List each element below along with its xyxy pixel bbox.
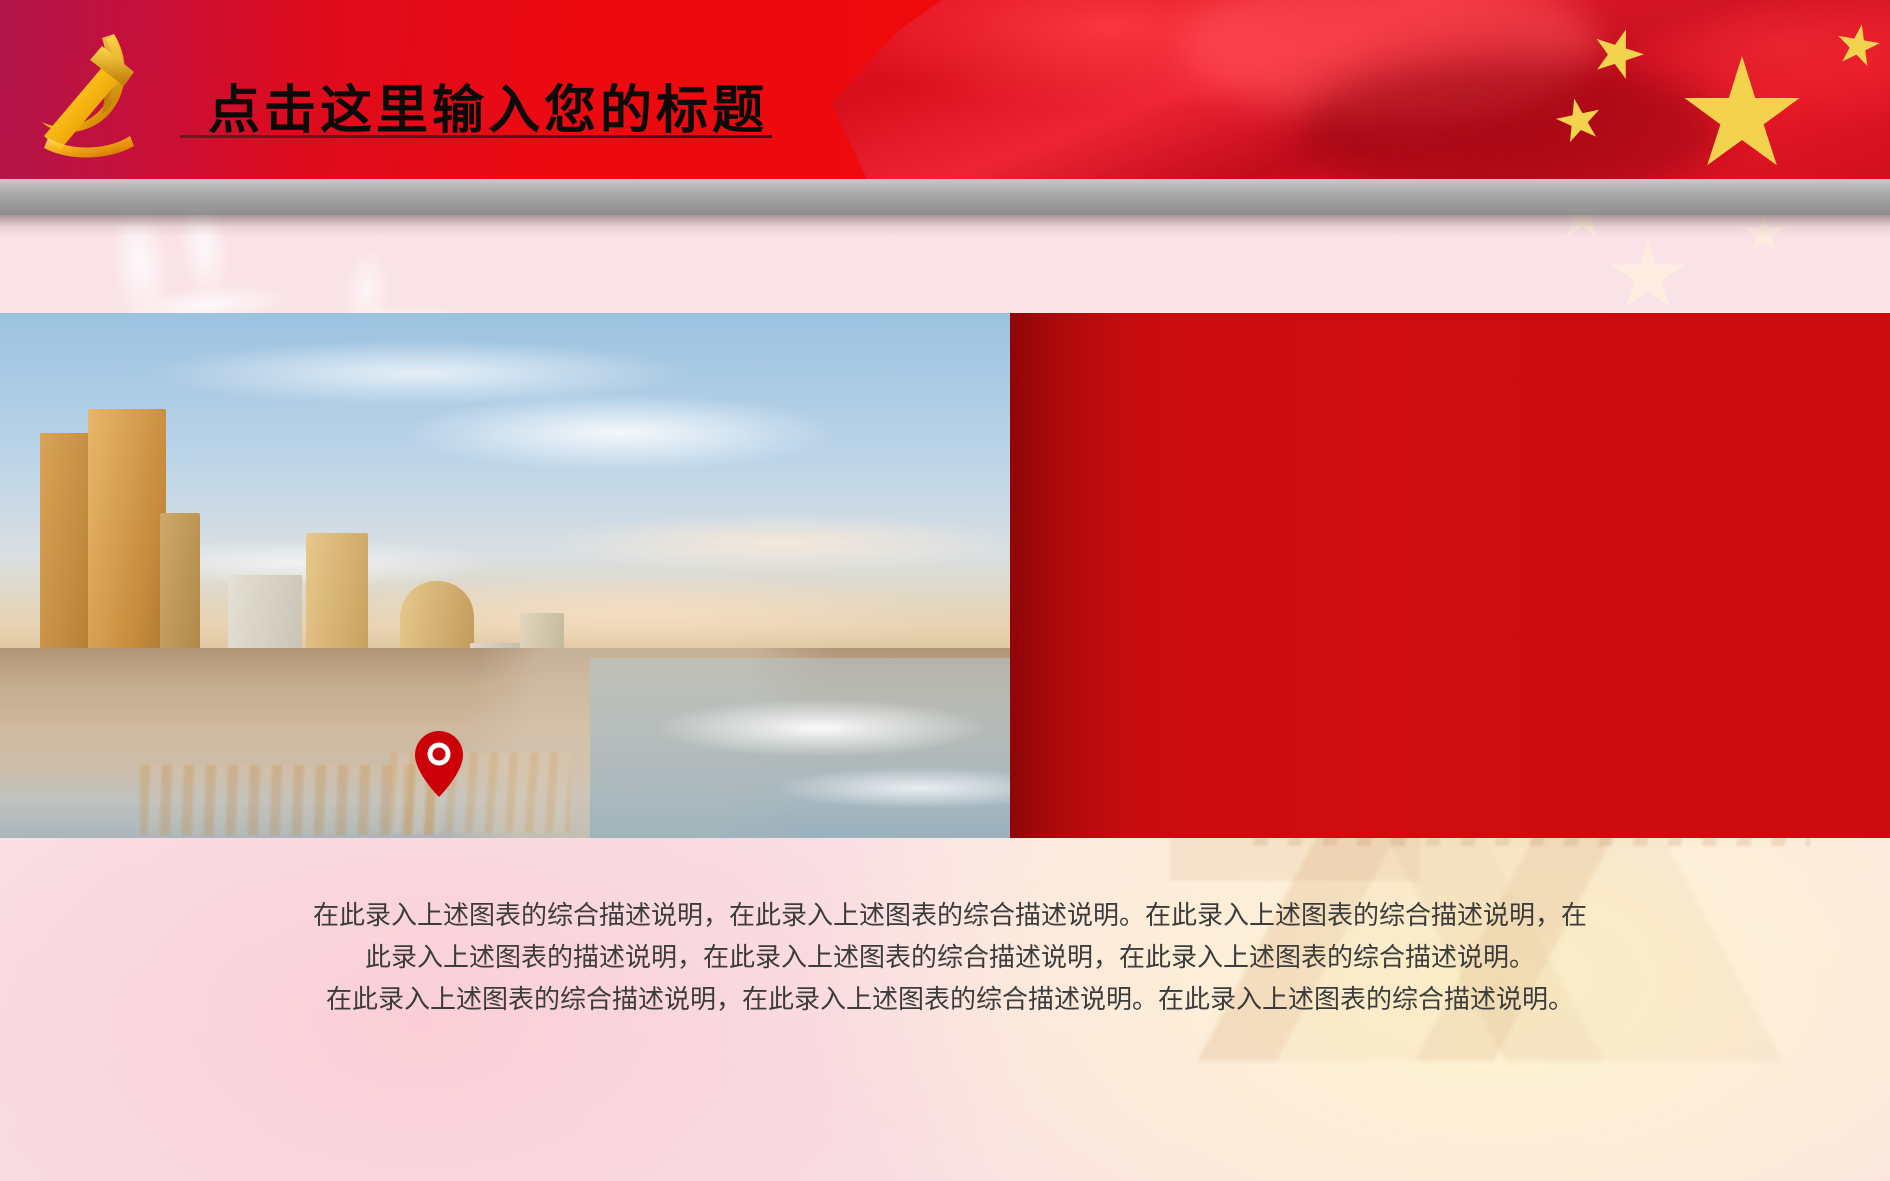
header-divider-shadow [0,215,1890,237]
slide-canvas: 点击这里输入您的标题 [0,0,1890,1181]
slide-header: 点击这里输入您的标题 [0,0,1890,179]
city-photo[interactable] [0,313,1010,838]
header-divider-bar [0,179,1890,215]
content-band: 右键点击图片选择设置图片格式可直接替换图片。 您可以点击文字框输入您的描述说明，… [0,313,1890,838]
cpc-hammer-sickle-emblem-icon [28,18,156,158]
caption-line: 此录入上述图表的描述说明，在此录入上述图表的综合描述说明，在此录入上述图表的综合… [150,937,1750,979]
bottom-caption[interactable]: 在此录入上述图表的综合描述说明，在此录入上述图表的综合描述说明。在此录入上述图表… [150,895,1750,1021]
caption-line: 在此录入上述图表的综合描述说明，在此录入上述图表的综合描述说明。在此录入上述图表… [150,979,1750,1021]
red-description-panel: 右键点击图片选择设置图片格式可直接替换图片。 您可以点击文字框输入您的描述说明，… [1010,313,1890,838]
caption-line: 在此录入上述图表的综合描述说明，在此录入上述图表的综合描述说明。在此录入上述图表… [150,895,1750,937]
page-title: 点击这里输入您的标题 [208,68,768,143]
map-pin-marker-icon[interactable] [415,731,463,797]
title-underline [180,135,772,138]
ocean-surf [590,658,1010,838]
